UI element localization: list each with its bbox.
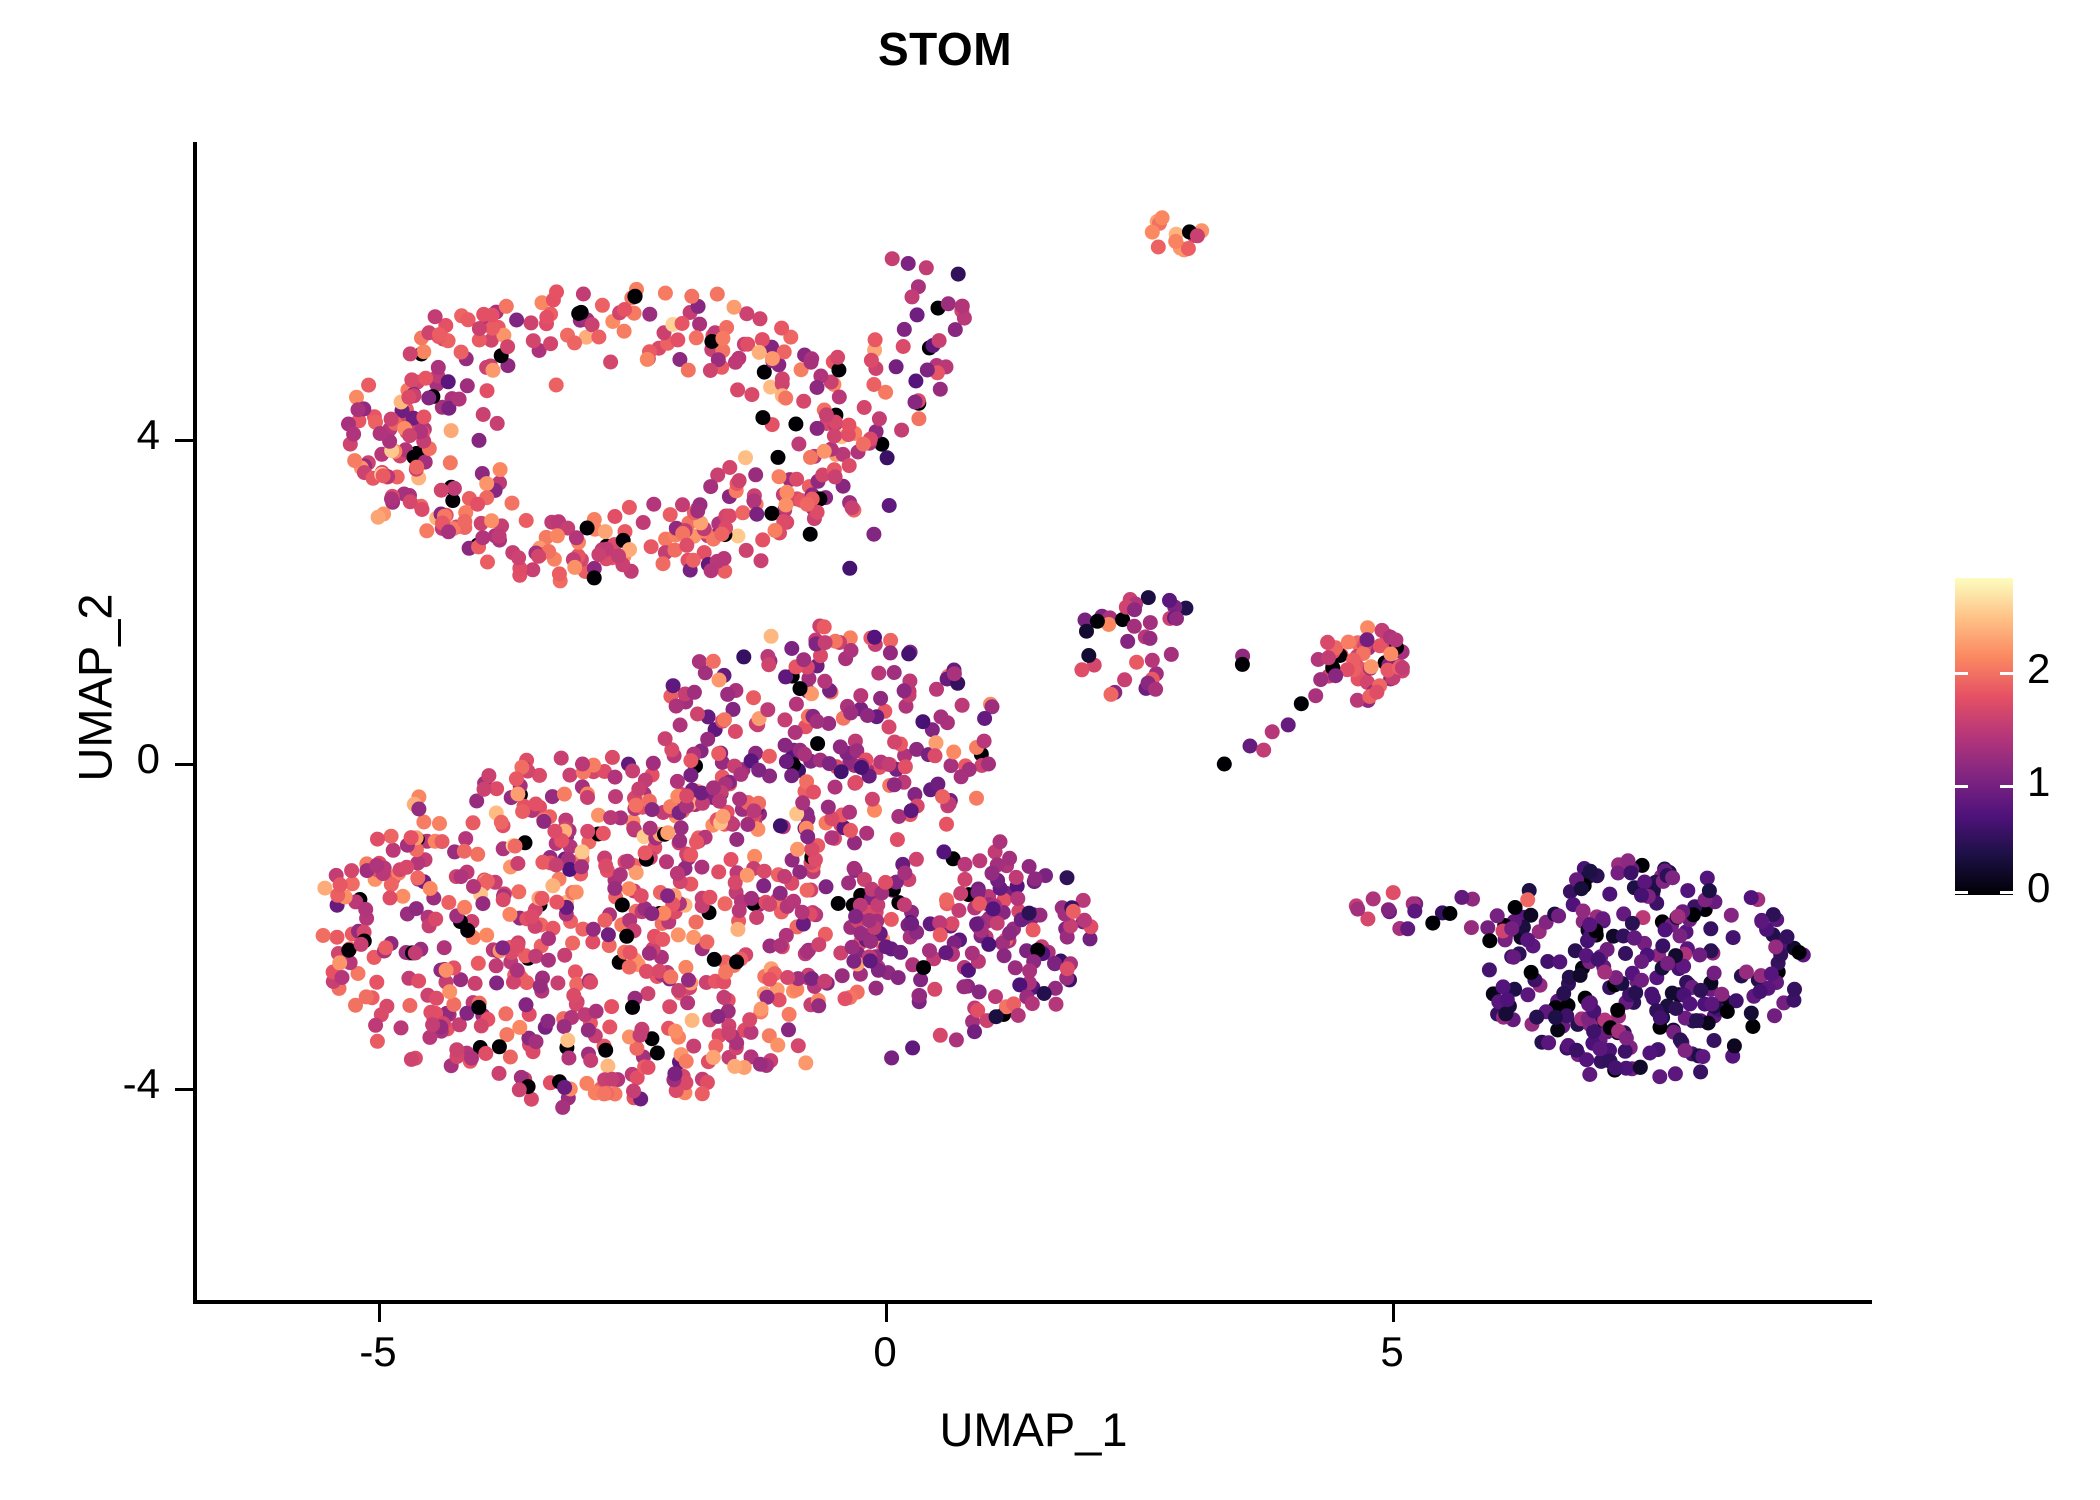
- colorbar-tick-label: 1: [2027, 758, 2050, 806]
- umap-feature-plot: STOM -5 0 5 4 0 -4 UMAP_1 UMAP_2 2 1 0: [0, 0, 2100, 1500]
- y-tick-mark: [175, 763, 193, 766]
- y-tick-mark: [175, 439, 193, 442]
- colorbar-tick-mark: [2000, 891, 2013, 894]
- y-tick-mark: [175, 1088, 193, 1091]
- colorbar-tick-mark: [1955, 785, 1968, 788]
- colorbar-tick-mark: [2000, 785, 2013, 788]
- x-axis-title: UMAP_1: [195, 1402, 1872, 1457]
- x-tick-mark: [885, 1304, 888, 1322]
- x-tick-label: -5: [318, 1328, 438, 1376]
- x-tick-mark: [378, 1304, 381, 1322]
- colorbar-gradient: [1955, 578, 2013, 895]
- x-axis-line: [193, 1300, 1872, 1304]
- colorbar-tick-label: 2: [2027, 645, 2050, 693]
- colorbar-tick-mark: [1955, 672, 1968, 675]
- colorbar-tick-mark: [2000, 672, 2013, 675]
- y-axis-line: [193, 142, 197, 1304]
- plot-panel: [195, 142, 1872, 1302]
- colorbar-tick-mark: [1955, 891, 1968, 894]
- page-title: STOM: [0, 22, 1890, 76]
- x-tick-mark: [1392, 1304, 1395, 1322]
- x-tick-label: 0: [825, 1328, 945, 1376]
- y-axis-title: UMAP_2: [68, 288, 123, 1088]
- x-tick-label: 5: [1332, 1328, 1452, 1376]
- colorbar-tick-label: 0: [2027, 864, 2050, 912]
- colorbar-legend: 2 1 0: [1955, 578, 2013, 895]
